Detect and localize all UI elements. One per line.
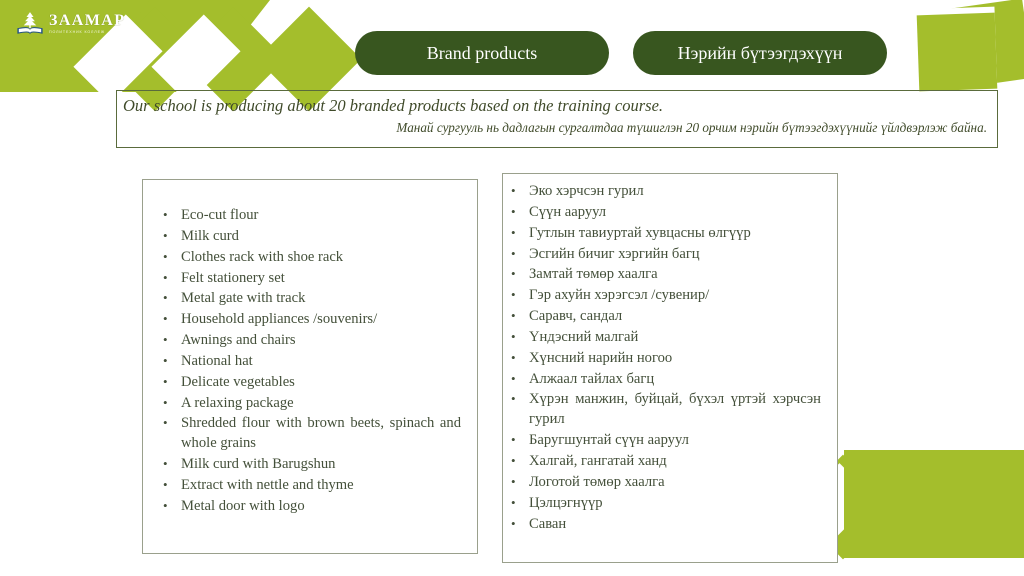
list-item-label: National hat — [181, 353, 253, 369]
quote-mongolian: Манай сургууль нь дадлагын сургалтдаа тү… — [123, 119, 989, 137]
bullet-icon: • — [511, 390, 516, 408]
bullet-icon: • — [163, 248, 168, 266]
list-item: •A relaxing package — [181, 394, 461, 414]
bullet-icon: • — [511, 245, 516, 263]
bullet-icon: • — [511, 431, 516, 449]
bullet-icon: • — [511, 494, 516, 512]
list-item-label: Household appliances /souvenirs/ — [181, 311, 377, 327]
list-item: •Eco-cut flour — [181, 206, 461, 226]
list-item-label: Халгай, гангатай ханд — [529, 453, 667, 469]
list-item: •Гутлын тавиуртай хувцасны өлгүүр — [529, 224, 821, 244]
list-item-label: Хүнсний нарийн ногоо — [529, 350, 672, 366]
list-item: •Эко хэрчсэн гурил — [529, 182, 821, 202]
list-item: •Delicate vegetables — [181, 373, 461, 393]
bullet-icon: • — [163, 414, 168, 432]
bullet-icon: • — [163, 455, 168, 473]
bullet-icon: • — [163, 394, 168, 412]
product-list-mongolian: •Эко хэрчсэн гурил•Сүүн ааруул•Гутлын та… — [503, 174, 837, 534]
list-item-label: Эсгийн бичиг хэргийн багц — [529, 246, 700, 262]
product-list-english: •Eco-cut flour•Milk curd•Clothes rack wi… — [143, 180, 477, 517]
list-item: •Metal gate with track — [181, 289, 461, 309]
list-item-label: Felt stationery set — [181, 270, 285, 286]
list-item-label: Milk curd — [181, 228, 239, 244]
bullet-icon: • — [163, 497, 168, 515]
bullet-icon: • — [511, 473, 516, 491]
bullet-icon: • — [511, 515, 516, 533]
list-item: •Алжаал тайлах багц — [529, 370, 821, 390]
list-item: •Цэлцэгнүүр — [529, 494, 821, 514]
bullet-icon: • — [511, 286, 516, 304]
list-item: •Milk curd with Barugshun — [181, 455, 461, 475]
bullet-icon: • — [163, 373, 168, 391]
list-item-label: Metal gate with track — [181, 290, 305, 306]
list-item-label: Awnings and chairs — [181, 332, 296, 348]
bullet-icon: • — [163, 206, 168, 224]
list-item-label: A relaxing package — [181, 395, 294, 411]
list-item-label: Саван — [529, 516, 566, 532]
list-item: •Сүүн ааруул — [529, 203, 821, 223]
bullet-icon: • — [163, 331, 168, 349]
bullet-icon: • — [163, 227, 168, 245]
slide-canvas: ЗААМАР ПОЛИТЕХНИК КОЛЛЕЖ Brand products … — [0, 0, 1024, 576]
list-item-label: Үндэсний малгай — [529, 329, 638, 345]
list-item-label: Metal door with logo — [181, 498, 305, 514]
bullet-icon: • — [511, 224, 516, 242]
list-item: •Баругшунтай сүүн ааруул — [529, 431, 821, 451]
quote-box: Our school is producing about 20 branded… — [116, 90, 998, 148]
list-item-label: Milk curd with Barugshun — [181, 456, 335, 472]
list-item-label: Delicate vegetables — [181, 374, 295, 390]
bullet-icon: • — [511, 265, 516, 283]
bullet-icon: • — [163, 352, 168, 370]
list-item: •Халгай, гангатай ханд — [529, 452, 821, 472]
bullet-icon: • — [163, 476, 168, 494]
list-item: •Саван — [529, 515, 821, 535]
bullet-icon: • — [163, 310, 168, 328]
list-item-label: Цэлцэгнүүр — [529, 495, 603, 511]
title-pill-english[interactable]: Brand products — [355, 31, 609, 75]
list-item: •Awnings and chairs — [181, 331, 461, 351]
school-logo: ЗААМАР ПОЛИТЕХНИК КОЛЛЕЖ — [16, 11, 125, 37]
decorative-green-block-br — [844, 450, 1024, 558]
list-item-label: Алжаал тайлах багц — [529, 371, 654, 387]
logo-wordmark: ЗААМАР — [49, 13, 125, 29]
product-list-box-mongolian: •Эко хэрчсэн гурил•Сүүн ааруул•Гутлын та… — [502, 173, 838, 563]
list-item: •Felt stationery set — [181, 269, 461, 289]
bullet-icon: • — [511, 452, 516, 470]
product-list-box-english: •Eco-cut flour•Milk curd•Clothes rack wi… — [142, 179, 478, 554]
quote-english: Our school is producing about 20 branded… — [123, 94, 989, 118]
bullet-icon: • — [163, 289, 168, 307]
list-item-label: Саравч, сандал — [529, 308, 622, 324]
list-item-label: Баругшунтай сүүн ааруул — [529, 432, 689, 448]
list-item-label: Эко хэрчсэн гурил — [529, 183, 644, 199]
list-item-label: Eco-cut flour — [181, 207, 258, 223]
list-item-label: Замтай төмөр хаалга — [529, 266, 658, 282]
logo-text-block: ЗААМАР ПОЛИТЕХНИК КОЛЛЕЖ — [49, 13, 125, 35]
list-item-label: Гэр ахуйн хэрэгсэл /сувенир/ — [529, 287, 709, 303]
decorative-square-front — [917, 13, 998, 92]
list-item: •Хүрэн манжин, буйцай, бүхэл үртэй хэрчс… — [529, 390, 821, 430]
list-item: •National hat — [181, 352, 461, 372]
list-item-label: Хүрэн манжин, буйцай, бүхэл үртэй хэрчсэ… — [529, 391, 821, 427]
list-item: •Үндэсний малгай — [529, 328, 821, 348]
list-item-label: Extract with nettle and thyme — [181, 477, 354, 493]
bullet-icon: • — [163, 269, 168, 287]
bullet-icon: • — [511, 182, 516, 200]
list-item-label: Clothes rack with shoe rack — [181, 249, 343, 265]
list-item: •Замтай төмөр хаалга — [529, 265, 821, 285]
logo-subtitle: ПОЛИТЕХНИК КОЛЛЕЖ — [49, 31, 125, 35]
tree-book-icon — [16, 11, 44, 37]
list-item: •Логотой төмөр хаалга — [529, 473, 821, 493]
list-item: •Гэр ахуйн хэрэгсэл /сувенир/ — [529, 286, 821, 306]
list-item-label: Shredded flour with brown beets, spinach… — [181, 415, 461, 451]
list-item: •Metal door with logo — [181, 497, 461, 517]
list-item: •Extract with nettle and thyme — [181, 476, 461, 496]
list-item: •Shredded flour with brown beets, spinac… — [181, 414, 461, 454]
list-item: •Саравч, сандал — [529, 307, 821, 327]
list-item: •Clothes rack with shoe rack — [181, 248, 461, 268]
bullet-icon: • — [511, 370, 516, 388]
title-pill-mongolian[interactable]: Нэрийн бүтээгдэхүүн — [633, 31, 887, 75]
bullet-icon: • — [511, 349, 516, 367]
list-item: •Хүнсний нарийн ногоо — [529, 349, 821, 369]
list-item-label: Логотой төмөр хаалга — [529, 474, 665, 490]
list-item: •Milk curd — [181, 227, 461, 247]
list-item: •Household appliances /souvenirs/ — [181, 310, 461, 330]
list-item-label: Сүүн ааруул — [529, 204, 606, 220]
list-item: •Эсгийн бичиг хэргийн багц — [529, 245, 821, 265]
bullet-icon: • — [511, 328, 516, 346]
list-item-label: Гутлын тавиуртай хувцасны өлгүүр — [529, 225, 751, 241]
bullet-icon: • — [511, 307, 516, 325]
bullet-icon: • — [511, 203, 516, 221]
